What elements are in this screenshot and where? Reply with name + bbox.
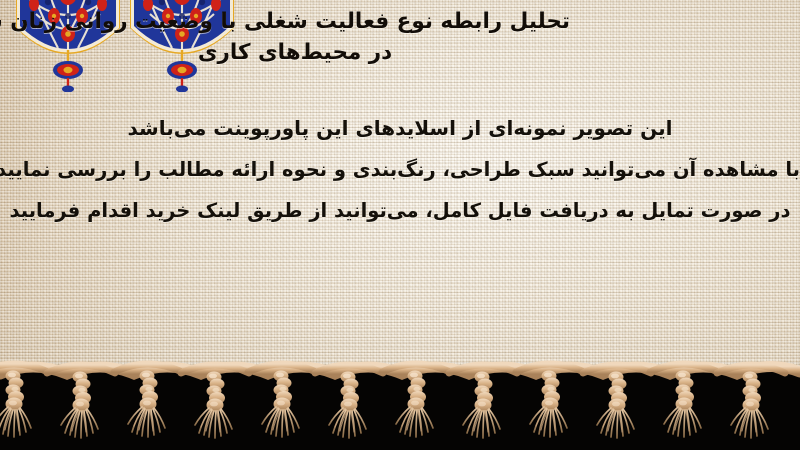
body-line-2: با مشاهده آن می‌توانید سبک طراحی، رنگ‌بن… bbox=[0, 149, 800, 190]
slide-title: تحلیل رابطه نوع فعالیت شغلی با وضعیت روا… bbox=[10, 6, 800, 68]
carpet-fringe-icon bbox=[0, 360, 800, 450]
slide-canvas: تحلیل رابطه نوع فعالیت شغلی با وضعیت روا… bbox=[0, 0, 800, 450]
body-line-1: این تصویر نمونه‌ای از اسلایدهای این پاور… bbox=[0, 108, 800, 149]
title-line-1: تحلیل رابطه نوع فعالیت شغلی با وضعیت روا… bbox=[20, 6, 800, 37]
slide-body: این تصویر نمونه‌ای از اسلایدهای این پاور… bbox=[0, 108, 800, 231]
body-line-3: در صورت تمایل به دریافت فایل کامل، می‌تو… bbox=[0, 190, 800, 231]
title-line-2: در محیط‌های کاری bbox=[20, 37, 800, 68]
